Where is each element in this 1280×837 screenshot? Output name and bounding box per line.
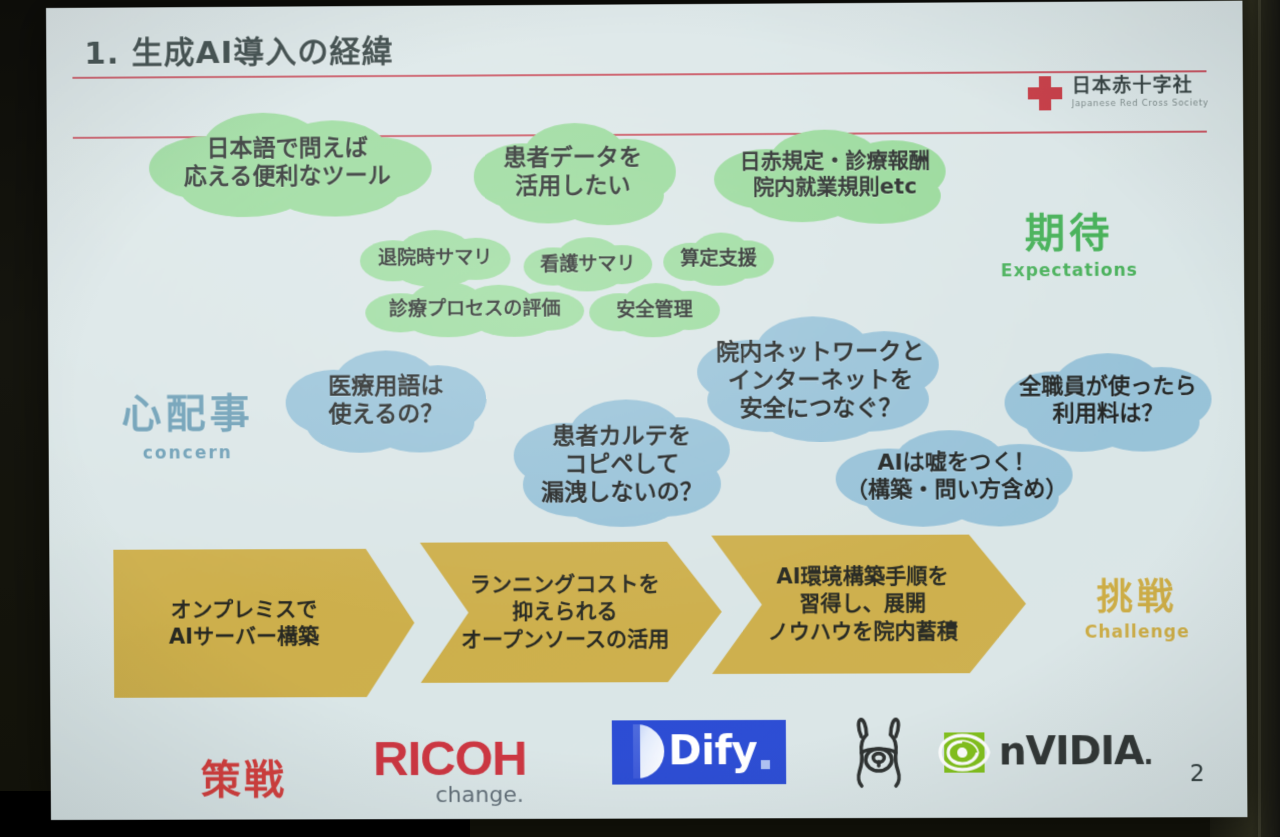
bubble-label: 患者カルテを コピペして 漏洩しないの？ bbox=[537, 422, 707, 507]
bubble-label: 患者データを 活用したい bbox=[499, 144, 646, 201]
bubble-label: 算定支援 bbox=[676, 248, 761, 272]
nvidia-logo: nVIDIA. bbox=[938, 729, 1153, 775]
bubble-convenient-tool: 日本語で問えば 応える便利なツール bbox=[137, 110, 438, 216]
slide-inner: 1. 生成AI導入の経緯 日本赤十字社 Japanese Red Cross S… bbox=[68, 13, 1231, 808]
dify-dot-icon bbox=[761, 760, 770, 769]
section-label-challenge: 挑戦 Challenge bbox=[1051, 568, 1223, 643]
llama-icon bbox=[847, 716, 910, 790]
section-label-concern-jp: 心配事 bbox=[92, 381, 283, 440]
page-number: 2 bbox=[1190, 761, 1205, 787]
red-cross-icon bbox=[1028, 76, 1063, 110]
section-label-challenge-jp: 挑戦 bbox=[1051, 568, 1223, 621]
ollama-logo bbox=[847, 716, 910, 794]
section-label-expectations-en: Expectations bbox=[989, 261, 1151, 282]
arrow-label: オンプレミスで AIサーバー構築 bbox=[169, 596, 360, 651]
ricoh-wordmark: RICOH bbox=[373, 731, 527, 788]
arrow-running-cost: ランニングコストを 抑えられる オープンソースの活用 bbox=[420, 542, 722, 683]
arrow-on-premise: オンプレミスで AIサーバー構築 bbox=[113, 549, 414, 698]
arrow-label: ランニングコストを 抑えられる オープンソースの活用 bbox=[438, 571, 703, 654]
logo-text: 日本赤十字社 Japanese Red Cross Society bbox=[1072, 76, 1209, 109]
strategy-label: 策戦 bbox=[201, 747, 288, 805]
bubble-network-connection: 院内ネットワークと インターネットを 安全につなぐ？ bbox=[697, 316, 945, 446]
dify-wordmark: Dify bbox=[668, 728, 757, 774]
bubble-label: 看護サマリ bbox=[536, 253, 640, 277]
presentation-slide: 1. 生成AI導入の経緯 日本赤十字社 Japanese Red Cross S… bbox=[46, 1, 1247, 820]
bubble-label: 日赤規定・診療報酬 院内就業規則etc bbox=[736, 149, 935, 201]
bubble-label: AIは嘘をつく！ （構築・問い方含め） bbox=[842, 450, 1072, 505]
section-label-concern-en: concern bbox=[93, 443, 283, 464]
bubble-discharge-summary: 退院時サマリ bbox=[360, 230, 511, 289]
bubble-label: 全職員が使ったら 利用料は？ bbox=[1015, 374, 1201, 429]
ricoh-logo: RICOH change. bbox=[373, 731, 527, 809]
japanese-red-cross-logo: 日本赤十字社 Japanese Red Cross Society bbox=[1028, 75, 1209, 110]
bubble-care-process-eval: 診療プロセスの評価 bbox=[365, 281, 584, 338]
bubble-label: 院内ネットワークと インターネットを 安全につなぐ？ bbox=[712, 338, 929, 423]
dify-logo: Dify bbox=[612, 720, 787, 785]
section-label-expectations-jp: 期待 bbox=[988, 200, 1150, 259]
bubble-label: 退院時サマリ bbox=[374, 247, 497, 271]
section-label-concern: 心配事 concern bbox=[92, 381, 283, 464]
wall-seam bbox=[1258, 0, 1261, 837]
bubble-label: 診療プロセスの評価 bbox=[385, 298, 565, 322]
bubble-label: 医療用語は 使えるの？ bbox=[324, 372, 448, 429]
bubble-use-patient-data: 患者データを 活用したい bbox=[469, 120, 676, 223]
arrow-label: AI環境構築手順を 習得し、展開 ノウハウを院内蓄積 bbox=[745, 563, 992, 646]
nvidia-wordmark: nVIDIA. bbox=[998, 729, 1152, 775]
page-title: 1. 生成AI導入の経緯 bbox=[84, 26, 393, 73]
logo-name-en: Japanese Red Cross Society bbox=[1072, 98, 1209, 109]
bubble-usage-fee: 全職員が使ったら 利用料は？ bbox=[1004, 351, 1212, 452]
dify-mark-icon bbox=[622, 724, 665, 778]
bubble-label: 安全管理 bbox=[612, 299, 697, 323]
bubble-medical-terms: 医療用語は 使えるの？ bbox=[285, 348, 486, 453]
bubble-label: 日本語で問えば 応える便利なツール bbox=[180, 134, 395, 191]
section-label-expectations: 期待 Expectations bbox=[988, 200, 1150, 281]
section-label-challenge-en: Challenge bbox=[1051, 622, 1223, 643]
logo-name-jp: 日本赤十字社 bbox=[1072, 76, 1209, 97]
bubble-billing-support: 算定支援 bbox=[663, 232, 774, 287]
nvidia-eye-icon bbox=[938, 730, 991, 774]
ricoh-tagline: change. bbox=[435, 783, 526, 808]
bubble-jrc-rules: 日赤規定・診療報酬 院内就業規則etc bbox=[709, 127, 961, 223]
arrow-build-knowhow: AI環境構築手順を 習得し、展開 ノウハウを院内蓄積 bbox=[711, 534, 1026, 674]
